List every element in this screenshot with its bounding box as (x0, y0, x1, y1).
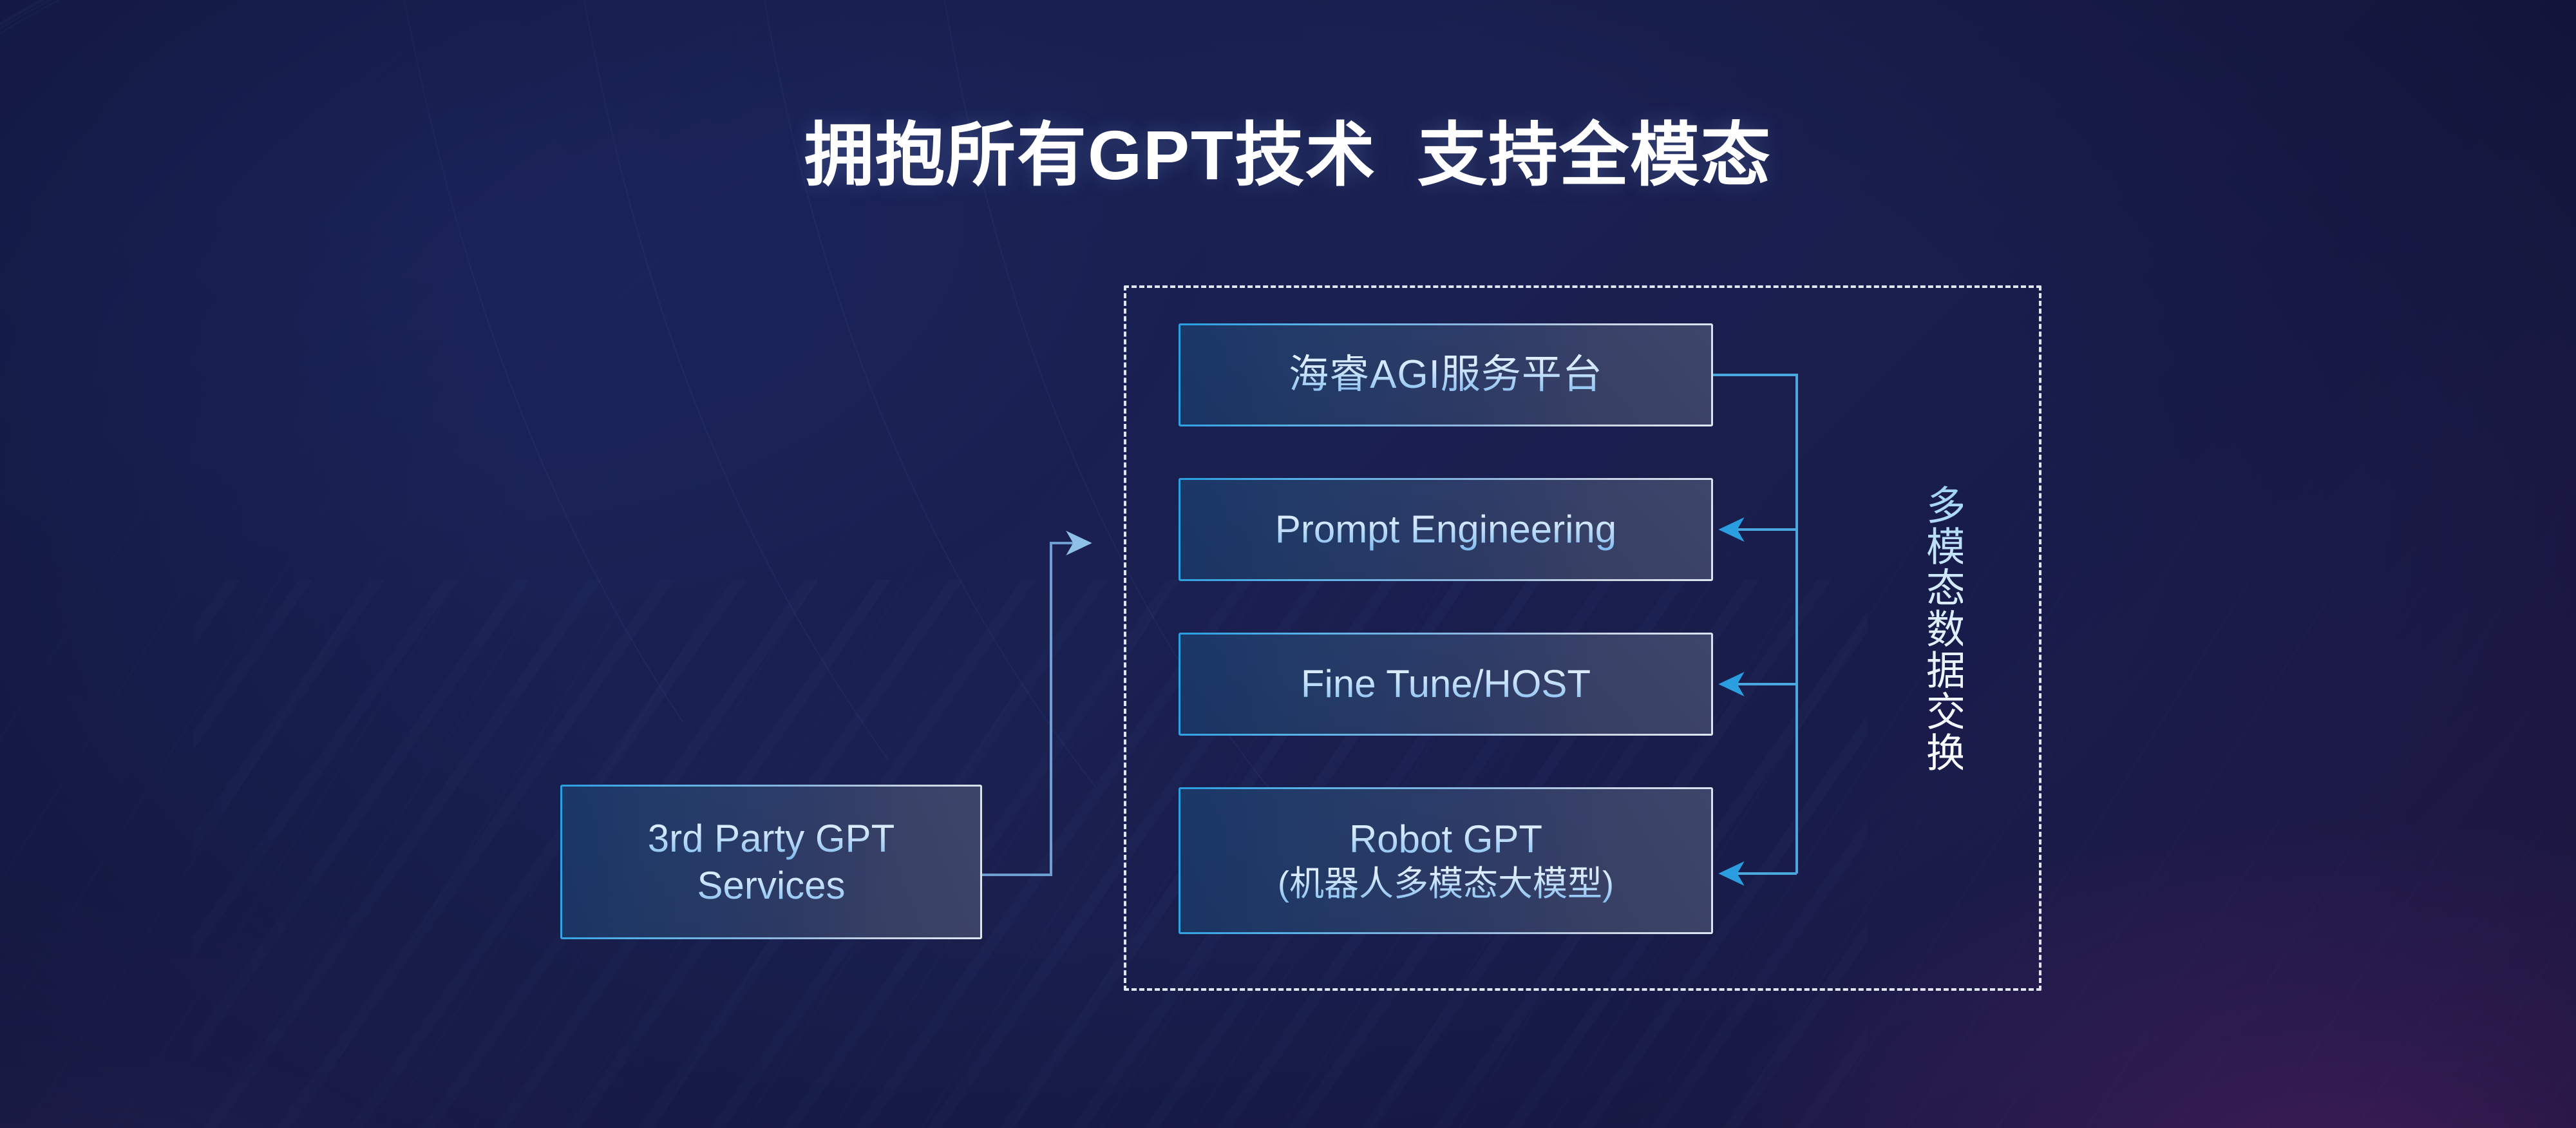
connector-third-party-to-platform (982, 543, 1090, 875)
node-prompt-engineering-label: Prompt Engineering (1275, 506, 1616, 553)
node-robot-gpt-sublabel: (机器人多模态大模型) (1278, 863, 1614, 906)
node-fine-tune-host[interactable]: Fine Tune/HOST (1179, 633, 1713, 736)
node-third-party-line1: 3rd Party GPT (648, 815, 895, 862)
diagram-stage: 海睿AGI服务平台 Prompt Engineering Fine Tune/H… (0, 0, 2576, 1128)
node-third-party-line2: Services (697, 862, 845, 909)
node-robot-gpt[interactable]: Robot GPT (机器人多模态大模型) (1179, 787, 1713, 934)
node-agi-platform[interactable]: 海睿AGI服务平台 (1179, 323, 1713, 426)
node-fine-tune-host-label: Fine Tune/HOST (1301, 660, 1591, 707)
side-label-multimodal-data-exchange: 多模态数据交换 (1911, 484, 1963, 773)
node-third-party-gpt-services[interactable]: 3rd Party GPT Services (560, 785, 982, 939)
node-agi-platform-label: 海睿AGI服务平台 (1289, 350, 1603, 399)
node-robot-gpt-label: Robot GPT (1349, 816, 1542, 863)
node-prompt-engineering[interactable]: Prompt Engineering (1179, 478, 1713, 581)
